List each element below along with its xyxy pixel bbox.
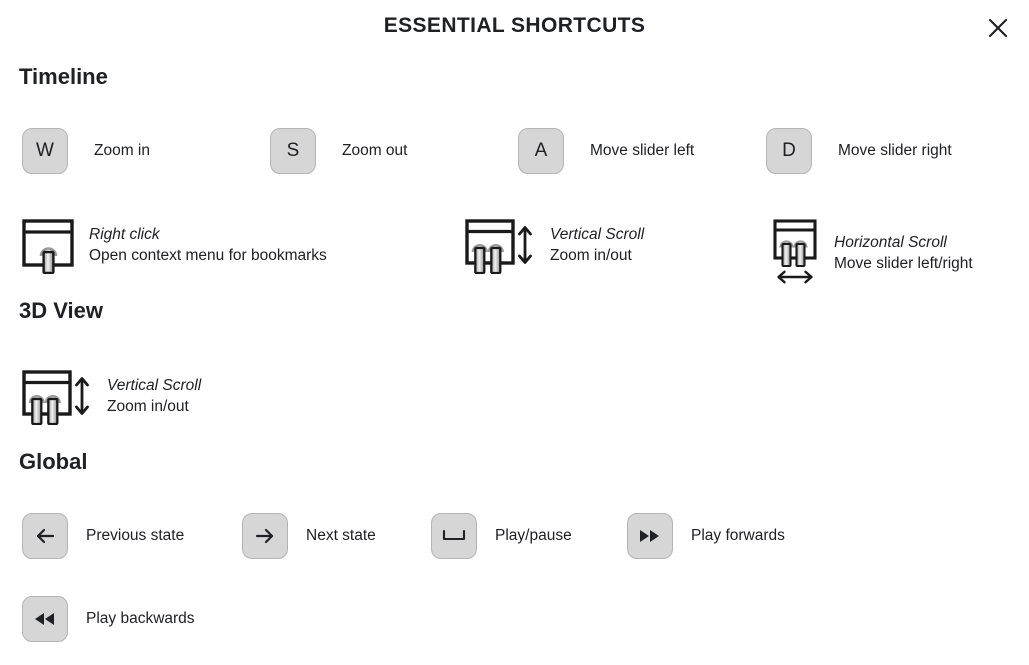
shortcut-lead-right-click: Right click xyxy=(89,225,327,246)
shortcut-label-right-click: Right click Open context menu for bookma… xyxy=(89,225,327,267)
arrow-left-icon xyxy=(33,524,57,548)
shortcut-label-move-slider-left: Move slider left xyxy=(590,141,694,162)
essential-shortcuts-dialog: ESSENTIAL SHORTCUTS Timeline W Zoom in S… xyxy=(0,0,1029,665)
shortcut-desc-vertical-scroll-timeline: Zoom in/out xyxy=(550,246,644,267)
shortcut-row-previous-state: Previous state xyxy=(22,513,184,559)
spacebar-icon xyxy=(441,526,467,546)
mouse-horizontal-scroll-icon xyxy=(770,218,820,290)
shortcut-row-horizontal-scroll: Horizontal Scroll Move slider left/right xyxy=(770,218,973,290)
shortcut-desc-horizontal-scroll: Move slider left/right xyxy=(834,254,973,275)
arrow-right-icon xyxy=(253,524,277,548)
keycap-arrow-left[interactable] xyxy=(22,513,68,559)
shortcut-row-move-slider-left: A Move slider left xyxy=(518,128,694,174)
shortcut-label-next-state: Next state xyxy=(306,526,376,547)
section-heading-global: Global xyxy=(19,449,87,475)
dialog-header: ESSENTIAL SHORTCUTS xyxy=(0,0,1029,56)
rewind-icon xyxy=(32,610,58,628)
shortcut-row-vertical-scroll-3dview: Vertical Scroll Zoom in/out xyxy=(21,369,201,425)
page-title: ESSENTIAL SHORTCUTS xyxy=(0,14,1029,38)
mouse-right-click-icon xyxy=(21,218,75,274)
close-icon[interactable] xyxy=(981,11,1015,45)
shortcut-label-horizontal-scroll: Horizontal Scroll Move slider left/right xyxy=(834,233,973,275)
shortcut-row-play-backwards: Play backwards xyxy=(22,596,195,642)
shortcut-label-vertical-scroll-timeline: Vertical Scroll Zoom in/out xyxy=(550,225,644,267)
mouse-vertical-scroll-icon xyxy=(464,218,536,274)
shortcut-label-zoom-out: Zoom out xyxy=(342,141,407,162)
shortcut-label-vertical-scroll-3dview: Vertical Scroll Zoom in/out xyxy=(107,376,201,418)
shortcut-lead-horizontal-scroll: Horizontal Scroll xyxy=(834,233,973,254)
shortcut-row-next-state: Next state xyxy=(242,513,376,559)
shortcut-row-zoom-in: W Zoom in xyxy=(22,128,150,174)
keycap-rewind[interactable] xyxy=(22,596,68,642)
keycap-spacebar[interactable] xyxy=(431,513,477,559)
shortcut-label-move-slider-right: Move slider right xyxy=(838,141,952,162)
keycap-d[interactable]: D xyxy=(766,128,812,174)
shortcut-label-play-pause: Play/pause xyxy=(495,526,572,547)
section-heading-timeline: Timeline xyxy=(19,64,108,90)
shortcut-row-play-pause: Play/pause xyxy=(431,513,572,559)
shortcut-row-zoom-out: S Zoom out xyxy=(270,128,407,174)
shortcut-desc-vertical-scroll-3dview: Zoom in/out xyxy=(107,397,201,418)
keycap-arrow-right[interactable] xyxy=(242,513,288,559)
shortcut-label-previous-state: Previous state xyxy=(86,526,184,547)
keycap-s[interactable]: S xyxy=(270,128,316,174)
shortcut-row-move-slider-right: D Move slider right xyxy=(766,128,952,174)
shortcut-lead-vertical-scroll-3dview: Vertical Scroll xyxy=(107,376,201,397)
keycap-a[interactable]: A xyxy=(518,128,564,174)
shortcut-row-vertical-scroll-timeline: Vertical Scroll Zoom in/out xyxy=(464,218,644,274)
shortcut-lead-vertical-scroll-timeline: Vertical Scroll xyxy=(550,225,644,246)
shortcut-row-right-click: Right click Open context menu for bookma… xyxy=(21,218,327,274)
shortcut-label-play-backwards: Play backwards xyxy=(86,609,195,630)
shortcut-row-play-forwards: Play forwards xyxy=(627,513,785,559)
shortcut-label-play-forwards: Play forwards xyxy=(691,526,785,547)
shortcut-desc-right-click: Open context menu for bookmarks xyxy=(89,246,327,267)
keycap-w[interactable]: W xyxy=(22,128,68,174)
shortcut-label-zoom-in: Zoom in xyxy=(94,141,150,162)
section-heading-3d-view: 3D View xyxy=(19,298,103,324)
keycap-fast-forward[interactable] xyxy=(627,513,673,559)
mouse-vertical-scroll-icon xyxy=(21,369,93,425)
fast-forward-icon xyxy=(637,527,663,545)
